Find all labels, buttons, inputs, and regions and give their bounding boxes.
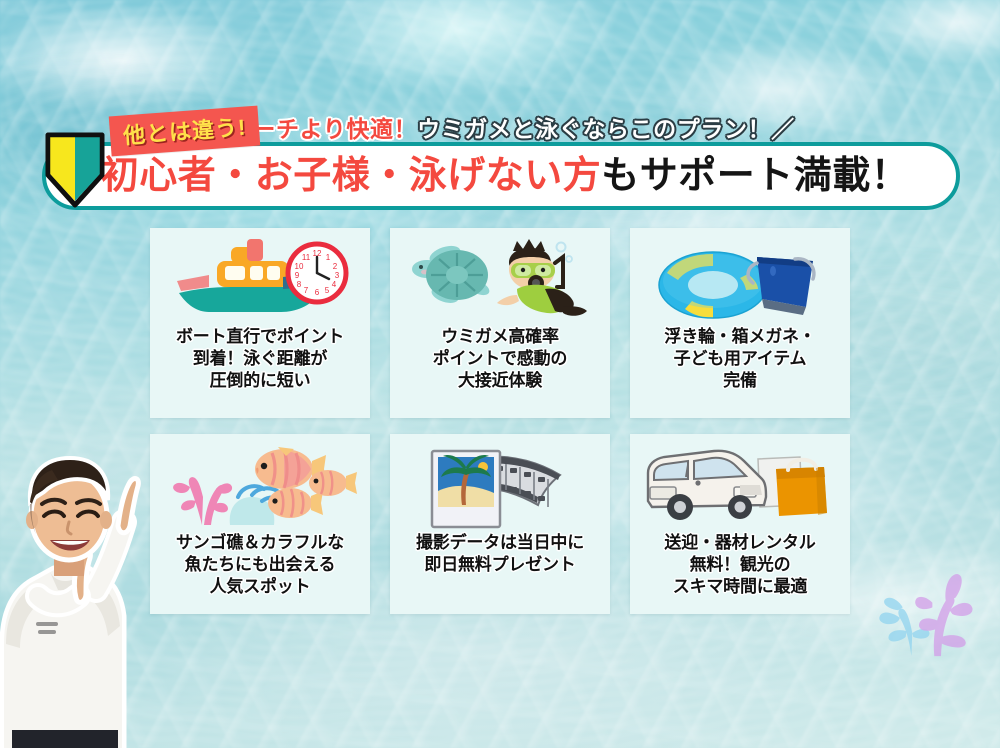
feature-card[interactable]: 浮き輪・箱メガネ・子ども用アイテム完備 <box>630 228 850 418</box>
feature-card-text: サンゴ礁＆カラフルな魚たちにも出会える人気スポット <box>170 530 350 614</box>
feature-card[interactable]: 1212 345 678 91011 ボート直行でポイント到着！泳ぐ距離が圧倒的… <box>150 228 370 418</box>
svg-text:5: 5 <box>325 286 330 295</box>
feature-card-grid: 1212 345 678 91011 ボート直行でポイント到着！泳ぐ距離が圧倒的… <box>150 228 850 614</box>
headline-black: もサポート満載！ <box>601 157 909 195</box>
pastel-coral-decoration-icon <box>877 553 982 658</box>
headline-red: 初心者・お子様・泳げない方 <box>101 157 602 195</box>
svg-text:4: 4 <box>332 280 337 289</box>
feature-card-text: 送迎・器材レンタル無料！観光のスキマ時間に最適 <box>658 530 821 614</box>
card-line: 完備 <box>723 371 757 390</box>
card-line: 人気スポット <box>210 577 311 596</box>
different-badge-label: 他とは違う! <box>122 115 247 149</box>
person-cutout-smiling-man-pointing <box>0 430 142 748</box>
card-line: 無料！観光の <box>690 555 791 574</box>
svg-text:1: 1 <box>326 253 331 262</box>
svg-text:8: 8 <box>297 280 302 289</box>
svg-text:6: 6 <box>315 288 320 297</box>
svg-text:3: 3 <box>335 271 340 280</box>
headline-banner: 初心者・お子様・泳げない方もサポート満載！ <box>42 142 960 210</box>
card-line: 到着！泳ぐ距離が <box>193 349 327 368</box>
feature-card-text: ウミガメ高確率ポイントで感動の大接近体験 <box>427 324 573 418</box>
card-line: ウミガメ高確率 <box>441 327 559 346</box>
feature-card-text: ボート直行でポイント到着！泳ぐ距離が圧倒的に短い <box>170 324 350 418</box>
card-line: 送迎・器材レンタル <box>664 533 815 552</box>
sea-turtle-and-snorkeler-icon <box>390 228 610 324</box>
card-line: ポイントで感動の <box>433 349 567 368</box>
life-ring-and-box-goggles-icon <box>630 228 850 324</box>
promo-banner-canvas: ＼ビーチより快適！ウミガメと泳ぐならこのプラン！／ 初心者・お子様・泳げない方も… <box>0 0 1000 748</box>
sub-headline-white: ウミガメと泳ぐならこのプラン！ <box>417 116 771 142</box>
coral-and-tropical-fish-icon <box>150 434 370 530</box>
card-line: サンゴ礁＆カラフルな <box>176 533 344 552</box>
boat-and-clock-icon: 1212 345 678 91011 <box>150 228 370 324</box>
feature-card[interactable]: 送迎・器材レンタル無料！観光のスキマ時間に最適 <box>630 434 850 614</box>
van-and-shopping-bag-icon <box>630 434 850 530</box>
svg-text:9: 9 <box>295 271 300 280</box>
svg-text:10: 10 <box>295 262 304 271</box>
svg-text:7: 7 <box>304 286 309 295</box>
feature-card-text: 浮き輪・箱メガネ・子ども用アイテム完備 <box>658 324 821 418</box>
card-line: 撮影データは当日中に <box>416 533 584 552</box>
sub-headline-close-mark: ／ <box>771 116 795 142</box>
headline: 初心者・お子様・泳げない方もサポート満載！ <box>46 146 964 206</box>
card-line: スキマ時間に最適 <box>673 577 807 596</box>
feature-card[interactable]: 撮影データは当日中に即日無料プレゼント <box>390 434 610 614</box>
feature-card[interactable]: ウミガメ高確率ポイントで感動の大接近体験 <box>390 228 610 418</box>
photo-and-film-strip-icon <box>390 434 610 530</box>
svg-text:2: 2 <box>333 262 338 271</box>
card-line: 魚たちにも出会える <box>185 555 336 574</box>
feature-card-text: 撮影データは当日中に即日無料プレゼント <box>410 530 590 614</box>
card-line: 子ども用アイテム <box>674 349 807 368</box>
svg-text:11: 11 <box>302 253 311 262</box>
card-line: 即日無料プレゼント <box>424 555 575 574</box>
card-line: 大接近体験 <box>458 371 542 390</box>
card-line: ボート直行でポイント <box>176 327 344 346</box>
feature-card[interactable]: サンゴ礁＆カラフルな魚たちにも出会える人気スポット <box>150 434 370 614</box>
card-line: 圧倒的に短い <box>210 371 311 390</box>
card-line: 浮き輪・箱メガネ・ <box>664 327 815 346</box>
